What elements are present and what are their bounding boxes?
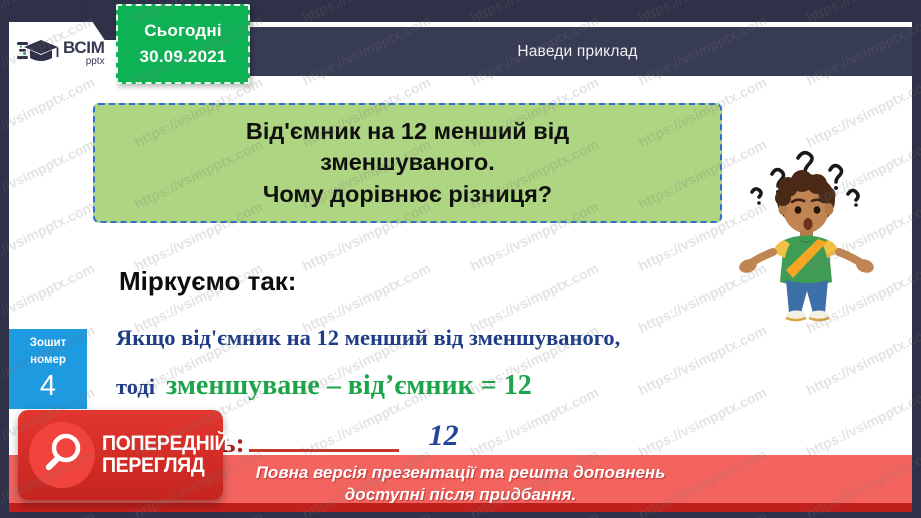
notebook-number-badge: Зошит номер 4	[9, 329, 87, 409]
reasoning-equation: зменшуване – від’ємник = 12	[166, 370, 532, 402]
promo-line-2: доступні після придбання.	[345, 484, 576, 506]
promo-bottom-stripe	[9, 503, 912, 512]
promo-line-1: Повна версія презентації та решта доповн…	[256, 462, 666, 484]
problem-statement-box: Від'ємник на 12 менший від зменшуваного.…	[93, 103, 722, 223]
problem-line-1: Від'ємник на 12 менший від	[246, 116, 569, 147]
slide-title-bar: Наведи приклад	[243, 27, 912, 76]
reasoning-then-word: тоді	[116, 374, 155, 400]
answer-blank-line: 12	[249, 425, 399, 452]
reasoning-heading: Міркуємо так:	[119, 266, 296, 297]
magnifier-icon	[29, 422, 95, 488]
problem-line-2: зменшуваного.	[320, 147, 495, 178]
reasoning-conclusion: тоді зменшуване – від’ємник = 12	[116, 370, 532, 402]
answer-value: 12	[429, 419, 459, 453]
preview-badge-label: ПОПЕРЕДНІЙ ПЕРЕГЛЯД	[102, 433, 238, 476]
notebook-number: 4	[40, 370, 56, 403]
brand-name: ВСІМ	[63, 39, 105, 56]
date-value: 30.09.2021	[139, 47, 226, 67]
brand-logo-words: ВСІМ pptx	[63, 39, 105, 67]
slide-root: Наведи приклад ВСІМ pptx Сьогодні 30.09.…	[0, 0, 921, 518]
preview-label-line2: ПЕРЕГЛЯД	[102, 455, 228, 477]
problem-line-3: Чому дорівнює різниця?	[263, 179, 552, 210]
page-title: Наведи приклад	[517, 43, 637, 61]
today-date-badge: Сьогодні 30.09.2021	[116, 4, 250, 84]
reasoning-condition: Якщо від'ємник на 12 менший від зменшува…	[116, 325, 620, 351]
brand-logo[interactable]: ВСІМ pptx	[9, 27, 104, 79]
confused-boy-illustration	[738, 140, 888, 325]
graduation-cap-icon	[17, 38, 59, 68]
brand-suffix: pptx	[63, 57, 105, 67]
preview-label-line1: ПОПЕРЕДНІЙ	[102, 433, 228, 455]
notebook-label-line1: Зошит	[30, 335, 67, 352]
date-label: Сьогодні	[144, 21, 222, 41]
preview-badge[interactable]: ПОПЕРЕДНІЙ ПЕРЕГЛЯД	[18, 410, 223, 500]
notebook-label-line2: номер	[30, 352, 66, 369]
